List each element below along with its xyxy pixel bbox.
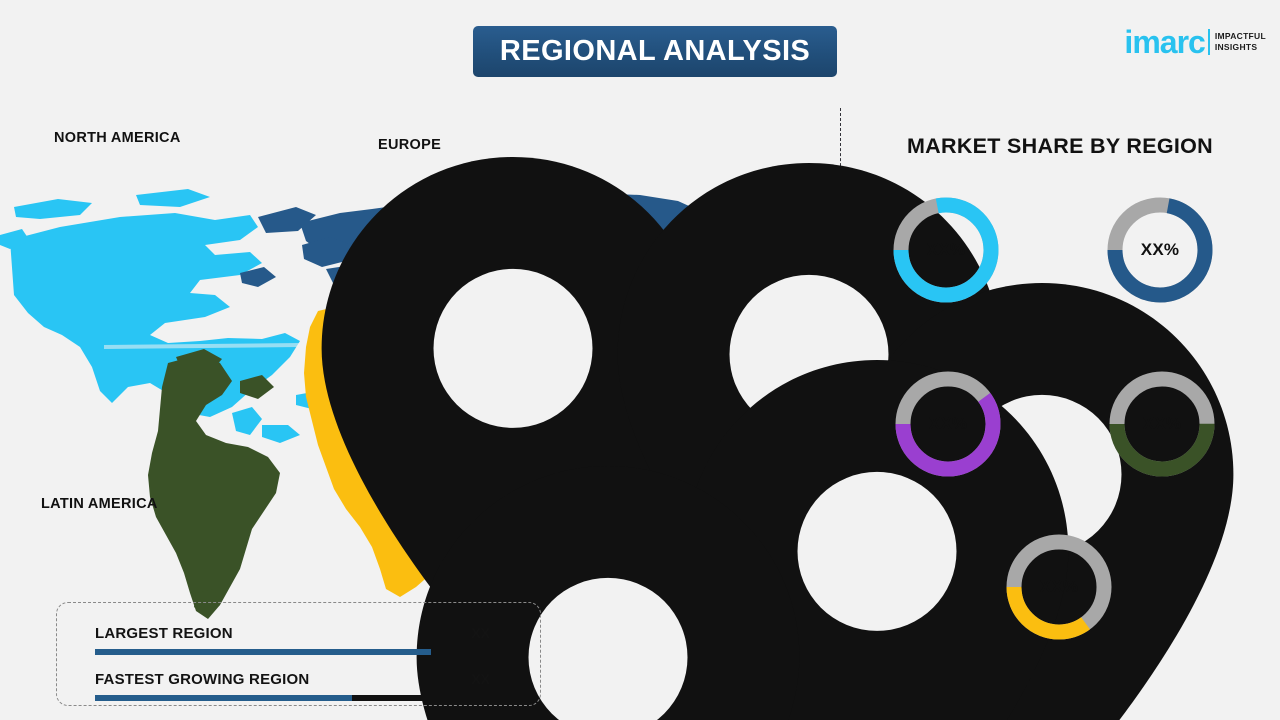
logo-separator [1208,29,1210,55]
donut-value-label: XX% [1003,531,1115,643]
legend-value: XX [471,625,490,641]
legend-progress-fill [95,695,352,701]
logo-wordmark: imarc [1124,26,1204,58]
legend-label: FASTEST GROWING REGION [95,671,309,688]
map-pin-icon-middle-east-africa [467,360,493,396]
page-title-banner: REGIONAL ANALYSIS [473,26,837,77]
world-map: NORTH AMERICA EUROPE ASIA PACIFIC MIDDLE… [0,95,820,625]
map-label-north-america: NORTH AMERICA [54,128,181,149]
legend-label: LARGEST REGION [95,625,233,642]
logo-tagline-line2: INSIGHTS [1215,42,1266,53]
donut-chart-middle-east-africa: XX% [1003,531,1115,643]
legend-row-largest-region: LARGEST REGION XX [95,625,490,655]
brand-logo: imarc IMPACTFUL INSIGHTS [1124,22,1266,62]
donut-value-label: XX% [892,368,1004,480]
region-summary-box: LARGEST REGION XX FASTEST GROWING REGION… [56,602,541,706]
donut-chart-north-america: XX% [890,194,1002,306]
map-pin-icon-asia-pacific [632,283,658,319]
map-pin-icon-europe [399,163,425,199]
legend-progress-track [95,695,490,701]
legend-value: XX [471,671,490,687]
map-label-europe: EUROPE [378,135,441,156]
donut-chart-asia-pacific: XX% [892,368,1004,480]
regional-analysis-infographic: REGIONAL ANALYSIS imarc IMPACTFUL INSIGH… [0,0,1280,720]
market-share-title: MARKET SHARE BY REGION [840,134,1280,159]
donut-chart-latin-america: XX% [1106,368,1218,480]
legend-progress-track [95,649,490,655]
logo-tagline-line1: IMPACTFUL [1215,31,1266,42]
legend-progress-fill [95,649,431,655]
page-title: REGIONAL ANALYSIS [500,35,810,68]
donut-value-label: XX% [1104,194,1216,306]
donut-value-label: XX% [890,194,1002,306]
map-pin-icon-north-america [103,157,129,193]
map-pin-icon-latin-america [198,466,224,502]
donut-value-label: XX% [1106,368,1218,480]
legend-row-fastest-growing-region: FASTEST GROWING REGION XX [95,671,490,701]
donut-chart-europe: XX% [1104,194,1216,306]
logo-tagline: IMPACTFUL INSIGHTS [1215,31,1266,53]
